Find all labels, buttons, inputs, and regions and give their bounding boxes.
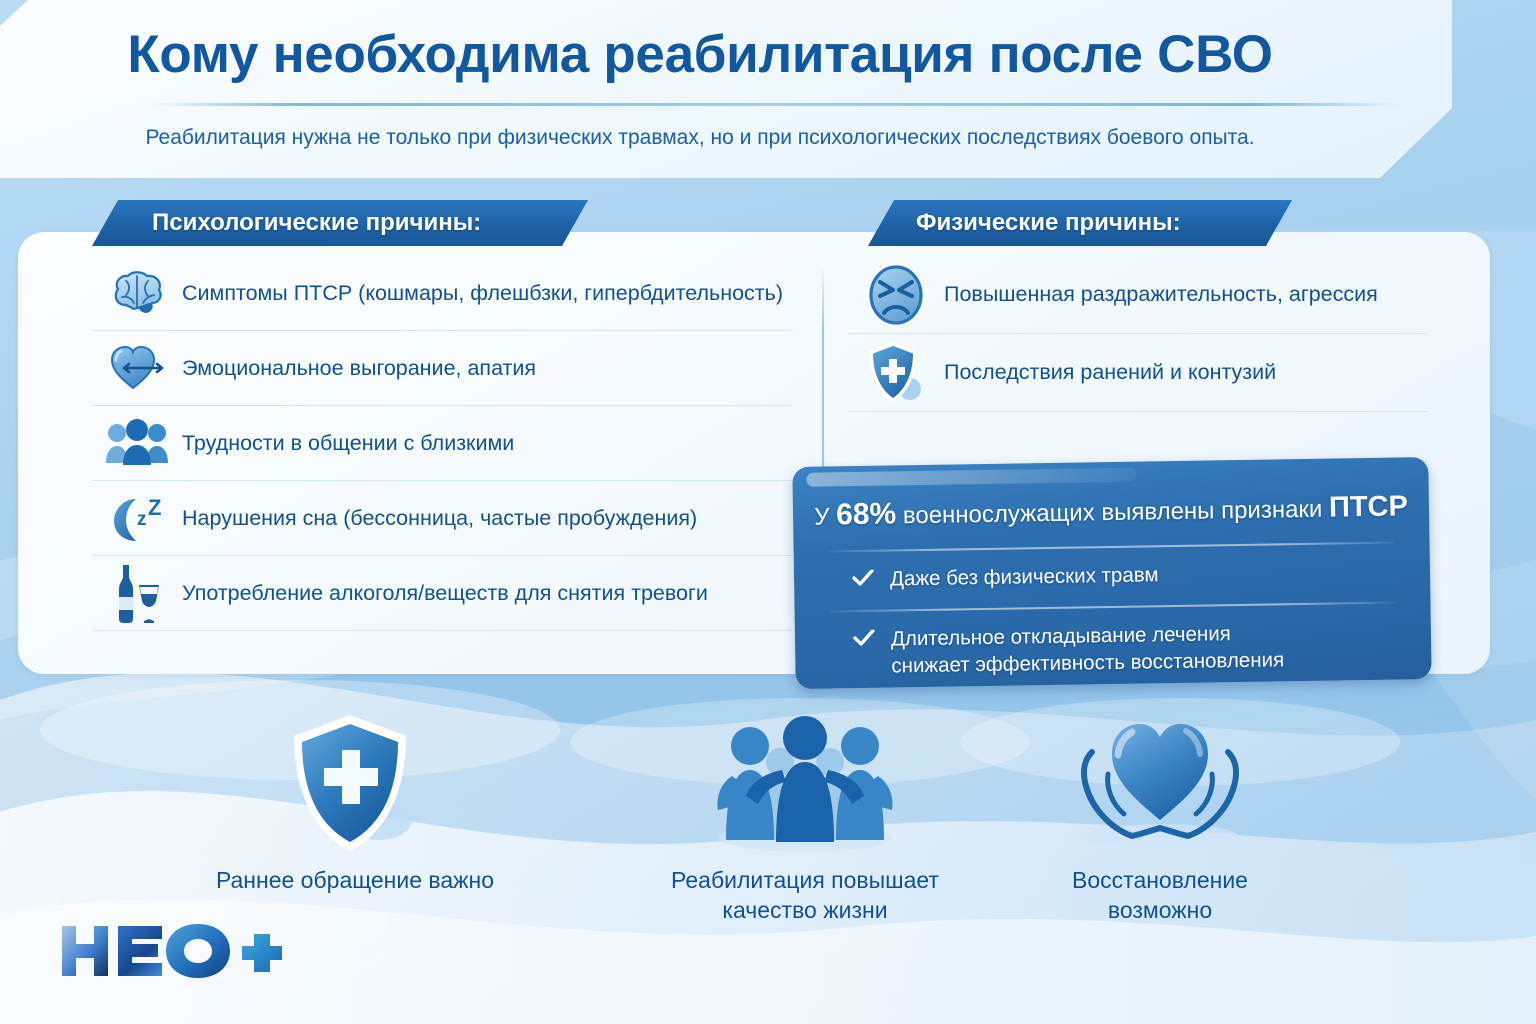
list-item: Последствия ранений и контузий [848, 334, 1428, 412]
section-header-psychological: Психологические причины: [92, 200, 588, 246]
section-header-psychological-label: Психологические причины: [152, 209, 481, 237]
stat-headline-abbr: ПТСР [1329, 490, 1408, 523]
check-icon [852, 568, 874, 595]
svg-text:z: z [137, 509, 147, 530]
brain-icon [92, 256, 182, 330]
hands-heart-icon [1070, 841, 1250, 858]
physical-causes-list: Повышенная раздражительность, агрессия П… [848, 256, 1428, 412]
psychological-causes-list: Симптомы ПТСР (кошмары, флешбзки, гиперб… [92, 256, 792, 631]
check-icon [853, 628, 875, 655]
feature-caption: Восстановление возможно [1010, 865, 1310, 926]
feature-early-treatment: Раннее обращение важно [205, 712, 505, 895]
feature-caption: Реабилитация повышает качество жизни [640, 865, 970, 926]
stat-percent: 68% [836, 497, 897, 531]
statistics-callout-box: У 68% военнослужащих выявлены признаки П… [792, 457, 1431, 689]
stat-headline-rest: военнослужащих выявлены признаки [896, 496, 1329, 530]
list-item-label: Эмоциональное выгорание, апатия [182, 356, 536, 381]
list-item-label: Симптомы ПТСР (кошмары, флешбзки, гиперб… [182, 281, 783, 306]
title-divider [150, 103, 1400, 106]
list-item: Трудности в общении с близкими [92, 406, 792, 481]
brand-logo [58, 920, 288, 982]
list-item: Употребление алкоголя/веществ для снятия… [92, 556, 792, 631]
shield-cross-large-icon [288, 841, 422, 858]
section-header-physical-label: Физические причины: [916, 209, 1181, 237]
stat-divider-1 [830, 542, 1394, 553]
bottle-glass-icon [92, 556, 182, 630]
list-item: Эмоциональное выгорание, апатия [92, 331, 792, 406]
statistics-headline: У 68% военнослужащих выявлены признаки П… [793, 489, 1429, 533]
list-item: z Z Нарушения сна (бессонница, частые пр… [92, 481, 792, 556]
list-item-label: Трудности в общении с близкими [182, 431, 514, 456]
list-item-label: Нарушения сна (бессонница, частые пробуж… [182, 506, 697, 531]
list-item-label: Употребление алкоголя/веществ для снятия… [182, 581, 708, 606]
list-item: Симптомы ПТСР (кошмары, флешбзки, гиперб… [92, 256, 792, 331]
page-subtitle: Реабилитация нужна не только при физичес… [0, 126, 1400, 150]
stat-prefix: У [814, 503, 836, 530]
list-item-label: Последствия ранений и контузий [944, 360, 1276, 385]
people-support-icon [712, 841, 898, 858]
shield-cross-icon [848, 334, 944, 411]
angry-face-icon [848, 256, 944, 333]
stat-bullet-label: Даже без физических травм [890, 561, 1159, 592]
svg-text:Z: Z [148, 495, 161, 520]
gloss-highlight [806, 468, 1136, 487]
section-header-physical: Физические причины: [868, 200, 1292, 246]
moon-sleep-icon: z Z [92, 481, 182, 555]
stat-divider-2 [831, 602, 1395, 613]
list-item-label: Повышенная раздражительность, агрессия [944, 282, 1378, 307]
feature-quality-of-life: Реабилитация повышает качество жизни [640, 712, 970, 926]
stat-bullet: Длительное откладывание лечения снижает … [853, 619, 1284, 680]
list-item: Повышенная раздражительность, агрессия [848, 256, 1428, 334]
stat-bullet-label: Длительное откладывание лечения снижает … [891, 619, 1285, 679]
stat-bullet: Даже без физических травм [852, 561, 1159, 595]
heart-arrows-icon [92, 331, 182, 405]
people-group-icon [92, 406, 182, 480]
feature-recovery-possible: Восстановление возможно [1010, 712, 1310, 926]
page-title: Кому необходима реабилитация после СВО [0, 24, 1400, 85]
feature-caption: Раннее обращение важно [205, 865, 505, 895]
